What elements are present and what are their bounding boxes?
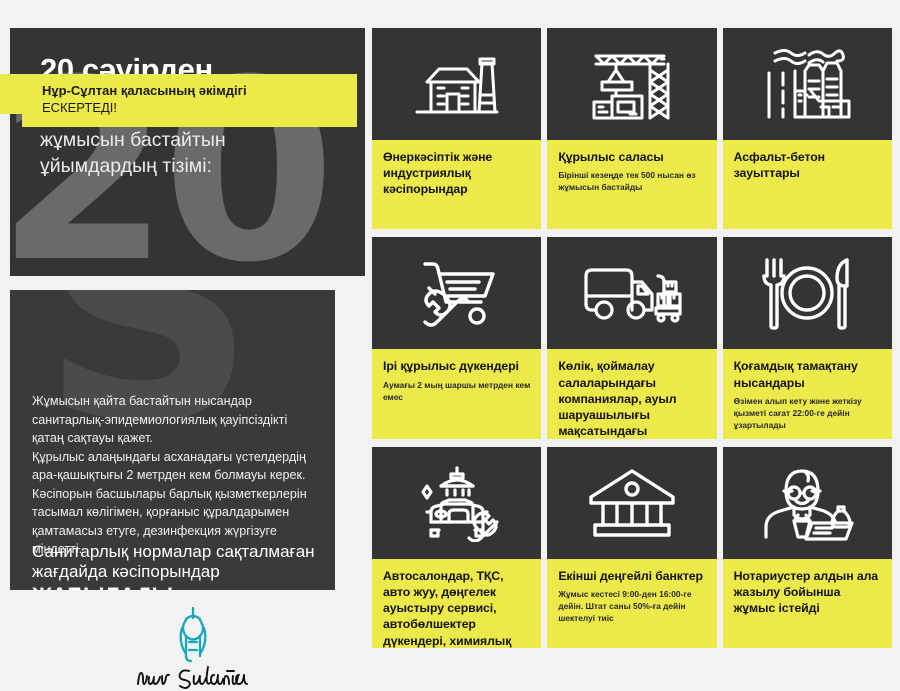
asphalt-plant-icon	[761, 45, 853, 123]
notice-strong-text: Санитарлық нормалар сақталмаған жағдайда…	[32, 542, 335, 590]
card-building-stores[interactable]: Ірі құрылыс дүкендері Аумағы 2 мың шаршы…	[372, 237, 541, 438]
card-icon-area	[723, 447, 892, 559]
card-icon-area	[723, 28, 892, 140]
car-wash-service-icon	[411, 464, 503, 542]
card-title: Автосалондар, ТҚС, авто жуу, дөңгелек ау…	[383, 568, 530, 648]
card-body: Қоғамдық тамақтану нысандары Өзімен алып…	[723, 349, 892, 438]
notice-strong-emphasis: ЖАБЫЛАДЫ	[32, 583, 173, 590]
card-body: Екінші деңгейлі банктер Жұмыс кестесі 9:…	[547, 559, 716, 648]
shopping-cart-tools-icon	[415, 256, 499, 330]
card-subtitle: Өзімен алып кету және жеткізу қызметі са…	[734, 395, 881, 432]
card-body: Ірі құрылыс дүкендері Аумағы 2 мың шаршы…	[372, 349, 541, 438]
card-icon-area	[372, 28, 541, 140]
infographic-page: 20 20 сәуірден бастап Нұр-Сұлтан қаласын…	[0, 0, 900, 674]
card-body: Өнеркәсіптік және индустриялық кәсіпорын…	[372, 140, 541, 229]
notice-highlight-bar: Нұр-Сұлтан қаласының әкімдігі ЕСКЕРТЕДІ!	[22, 74, 357, 127]
nur-sultan-logo	[128, 606, 258, 691]
card-icon-area	[372, 237, 541, 349]
construction-crane-icon	[588, 46, 676, 122]
bank-building-icon	[587, 467, 677, 539]
left-column: 20 20 сәуірден бастап Нұр-Сұлтан қаласын…	[10, 28, 365, 648]
card-icon-area	[547, 447, 716, 559]
card-icon-area	[723, 237, 892, 349]
card-subtitle: Жұмыс кестесі 9:00-ден 16:00-ге дейін. Ш…	[558, 588, 705, 625]
cutlery-plate-icon	[761, 256, 853, 330]
card-asphalt-plant[interactable]: Асфальт-бетон зауыттары	[723, 28, 892, 229]
card-notaries[interactable]: Нотариустер алдын ала жазылу бойынша жұм…	[723, 447, 892, 648]
card-title: Өнеркәсіптік және индустриялық кәсіпорын…	[383, 149, 530, 198]
delivery-truck-icon	[582, 260, 682, 326]
card-title: Көлік, қоймалау салаларындағы компанияла…	[558, 358, 705, 438]
card-body: Көлік, қоймалау салаларындағы компанияла…	[547, 349, 716, 438]
card-icon-area	[372, 447, 541, 559]
card-body: Нотариустер алдын ала жазылу бойынша жұм…	[723, 559, 892, 648]
notice-bar-line1: Нұр-Сұлтан қаласының әкімдігі	[42, 83, 343, 100]
card-title: Құрылыс саласы	[558, 149, 705, 165]
card-title: Екінші деңгейлі банктер	[558, 568, 705, 584]
card-factory[interactable]: Өнеркәсіптік және индустриялық кәсіпорын…	[372, 28, 541, 229]
card-title: Ірі құрылыс дүкендері	[383, 358, 530, 374]
card-subtitle: Аумағы 2 мың шаршы метрден кем емес	[383, 379, 530, 403]
card-car-services[interactable]: Автосалондар, ТҚС, авто жуу, дөңгелек ау…	[372, 447, 541, 648]
card-construction[interactable]: Құрылыс саласы Бірінші кезеңде тек 500 н…	[547, 28, 716, 229]
card-icon-area	[547, 28, 716, 140]
card-body: Асфальт-бетон зауыттары	[723, 140, 892, 229]
card-body: Автосалондар, ТҚС, авто жуу, дөңгелек ау…	[372, 559, 541, 648]
hero-panel: 20 20 сәуірден бастап Нұр-Сұлтан қаласын…	[10, 28, 365, 276]
card-title: Асфальт-бетон зауыттары	[734, 149, 881, 181]
card-subtitle: Бірінші кезеңде тек 500 нысан өз жұмысын…	[558, 169, 705, 193]
card-banks[interactable]: Екінші деңгейлі банктер Жұмыс кестесі 9:…	[547, 447, 716, 648]
notary-icon	[760, 465, 854, 541]
card-public-catering[interactable]: Қоғамдық тамақтану нысандары Өзімен алып…	[723, 237, 892, 438]
factory-icon	[411, 49, 503, 119]
category-grid: Өнеркәсіптік және индустриялық кәсіпорын…	[372, 28, 892, 648]
card-body: Құрылыс саласы Бірінші кезеңде тек 500 н…	[547, 140, 716, 229]
notice-body-text: Жұмысын қайта бастайтын нысандар санитар…	[32, 392, 322, 559]
notice-bar-line2: ЕСКЕРТЕДІ!	[42, 100, 343, 117]
card-title: Қоғамдық тамақтану нысандары	[734, 358, 881, 390]
notice-strong-prefix: Санитарлық нормалар сақталмаған жағдайда…	[32, 542, 315, 581]
card-title: Нотариустер алдын ала жазылу бойынша жұм…	[734, 568, 881, 617]
card-icon-area	[547, 237, 716, 349]
notice-panel: S Жұмысын қайта бастайтын нысандар санит…	[10, 290, 335, 590]
baiterek-tower-monogram-icon	[166, 606, 220, 664]
nur-sultan-wordmark	[134, 665, 252, 691]
card-transport-logistics[interactable]: Көлік, қоймалау салаларындағы компанияла…	[547, 237, 716, 438]
